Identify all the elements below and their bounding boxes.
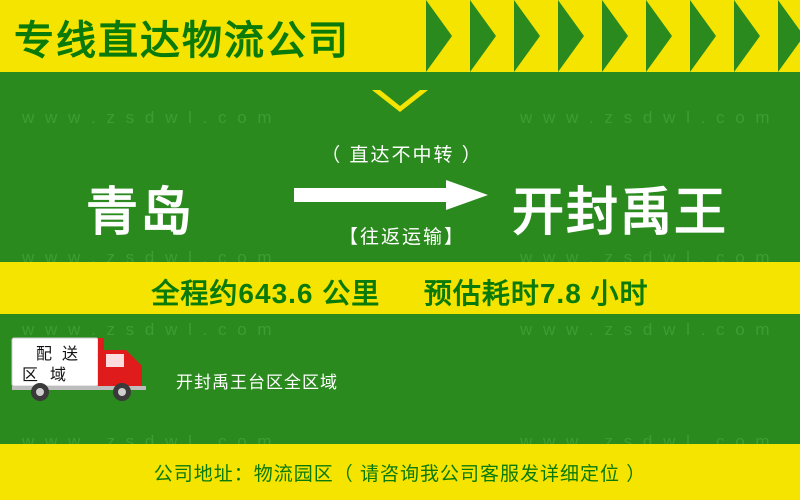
down-chevron-inner-icon [380,90,420,106]
direct-route-note: （ 直达不中转 ） [302,140,502,167]
distance-strip: 全程约643.6 公里 预估耗时7.8 小时 [0,262,800,314]
chevron-right-icon [690,0,716,72]
watermark-text: w w w . z s d w l . c o m [520,320,773,340]
company-address: 公司地址：物流园区（ 请咨询我公司客服发详细定位 ） [0,459,800,486]
chevron-right-icon [470,0,496,72]
chevron-right-icon [602,0,628,72]
svg-text:送: 送 [62,345,78,363]
distance-duration-text: 全程约643.6 公里 预估耗时7.8 小时 [0,272,800,312]
chevron-right-icon [426,0,452,72]
delivery-truck-icon: 配 送 区 域 [10,332,170,404]
duration-value: 预估耗时7.8 小时 [424,278,649,309]
top-header-bar: 专线直达物流公司 [0,0,800,72]
svg-text:域: 域 [50,366,66,384]
route-arrow-head-icon [446,180,488,210]
chevron-right-icon [734,0,760,72]
distance-value: 全程约643.6 公里 [151,278,380,309]
company-title: 专线直达物流公司 [14,8,350,66]
roundtrip-note: 【往返运输】 [302,222,502,249]
chevron-right-icon [514,0,540,72]
svg-text:配: 配 [36,345,52,363]
watermark-text: w w w . z s d w l . c o m [520,108,773,128]
bottom-address-bar: 公司地址：物流园区（ 请咨询我公司客服发详细定位 ） [0,444,800,500]
watermark-text: w w w . z s d w l . c o m [22,108,275,128]
destination-city: 开封禹王 [512,170,728,245]
route-arrow-shaft [294,188,454,202]
svg-text:区: 区 [22,367,38,384]
origin-city: 青岛 [86,170,194,245]
chevron-right-icon [558,0,584,72]
chevron-right-icon [646,0,672,72]
logistics-banner: w w w . z s d w l . c o mw w w . z s d w… [0,0,800,500]
chevron-right-icon [778,0,800,72]
delivery-area-text: 开封禹王台区全区域 [176,368,338,393]
